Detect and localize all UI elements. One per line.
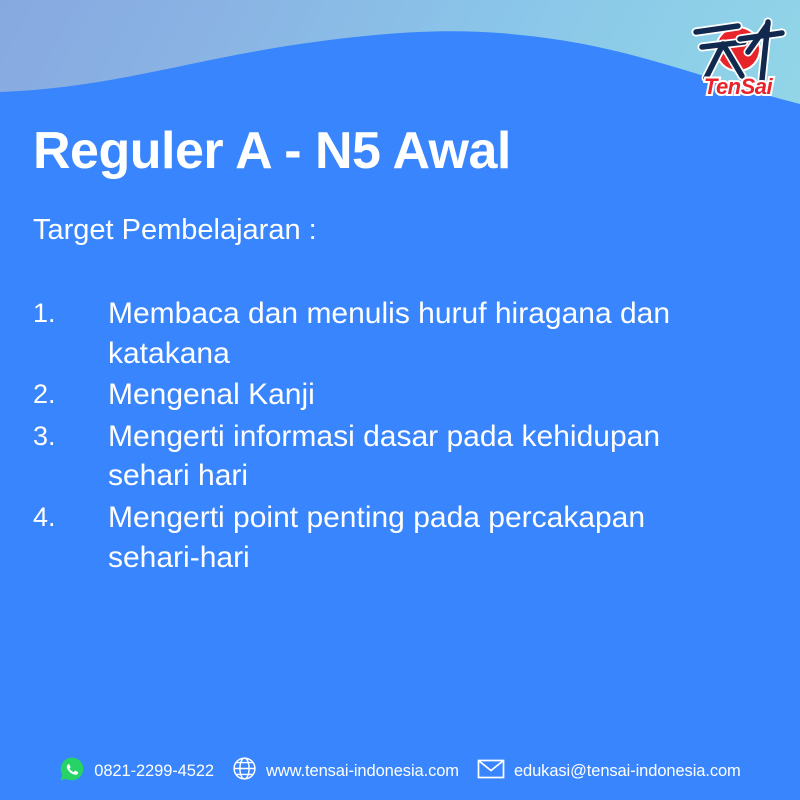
page-title: Reguler A - N5 Awal xyxy=(33,124,511,179)
list-item: 2. Mengenal Kanji xyxy=(33,375,763,415)
website-url: www.tensai-indonesia.com xyxy=(266,762,459,781)
learning-target-list: 1. Membaca dan menulis huruf hiragana da… xyxy=(33,294,763,579)
list-item-label: Mengenal Kanji xyxy=(108,375,733,415)
footer-contact-bar: 0821-2299-4522 www.tensai-indonesia.com … xyxy=(0,742,800,800)
section-subtitle: Target Pembelajaran : xyxy=(33,215,317,247)
poster-canvas: TenSai Reguler A - N5 Awal Target Pembel… xyxy=(0,0,800,800)
list-item-number: 1. xyxy=(33,294,108,333)
list-item: 4. Mengerti point penting pada percakapa… xyxy=(33,498,763,577)
tensai-logo: TenSai xyxy=(682,2,794,102)
wave-divider xyxy=(0,0,800,135)
contact-whatsapp[interactable]: 0821-2299-4522 xyxy=(59,756,214,787)
email-address: edukasi@tensai-indonesia.com xyxy=(514,762,741,781)
whatsapp-icon xyxy=(59,756,85,787)
list-item-label: Membaca dan menulis huruf hiragana dan k… xyxy=(108,294,733,373)
whatsapp-number: 0821-2299-4522 xyxy=(94,762,214,781)
list-item: 3. Mengerti informasi dasar pada kehidup… xyxy=(33,417,763,496)
list-item-label: Mengerti informasi dasar pada kehidupan … xyxy=(108,417,733,496)
list-item-label: Mengerti point penting pada percakapan s… xyxy=(108,498,733,577)
list-item: 1. Membaca dan menulis huruf hiragana da… xyxy=(33,294,763,373)
svg-text:TenSai: TenSai xyxy=(704,74,774,99)
list-item-number: 3. xyxy=(33,417,108,456)
contact-email[interactable]: edukasi@tensai-indonesia.com xyxy=(477,758,741,785)
envelope-icon xyxy=(477,758,505,785)
globe-icon xyxy=(232,756,257,786)
list-item-number: 2. xyxy=(33,375,108,414)
list-item-number: 4. xyxy=(33,498,108,537)
contact-website[interactable]: www.tensai-indonesia.com xyxy=(232,756,459,786)
